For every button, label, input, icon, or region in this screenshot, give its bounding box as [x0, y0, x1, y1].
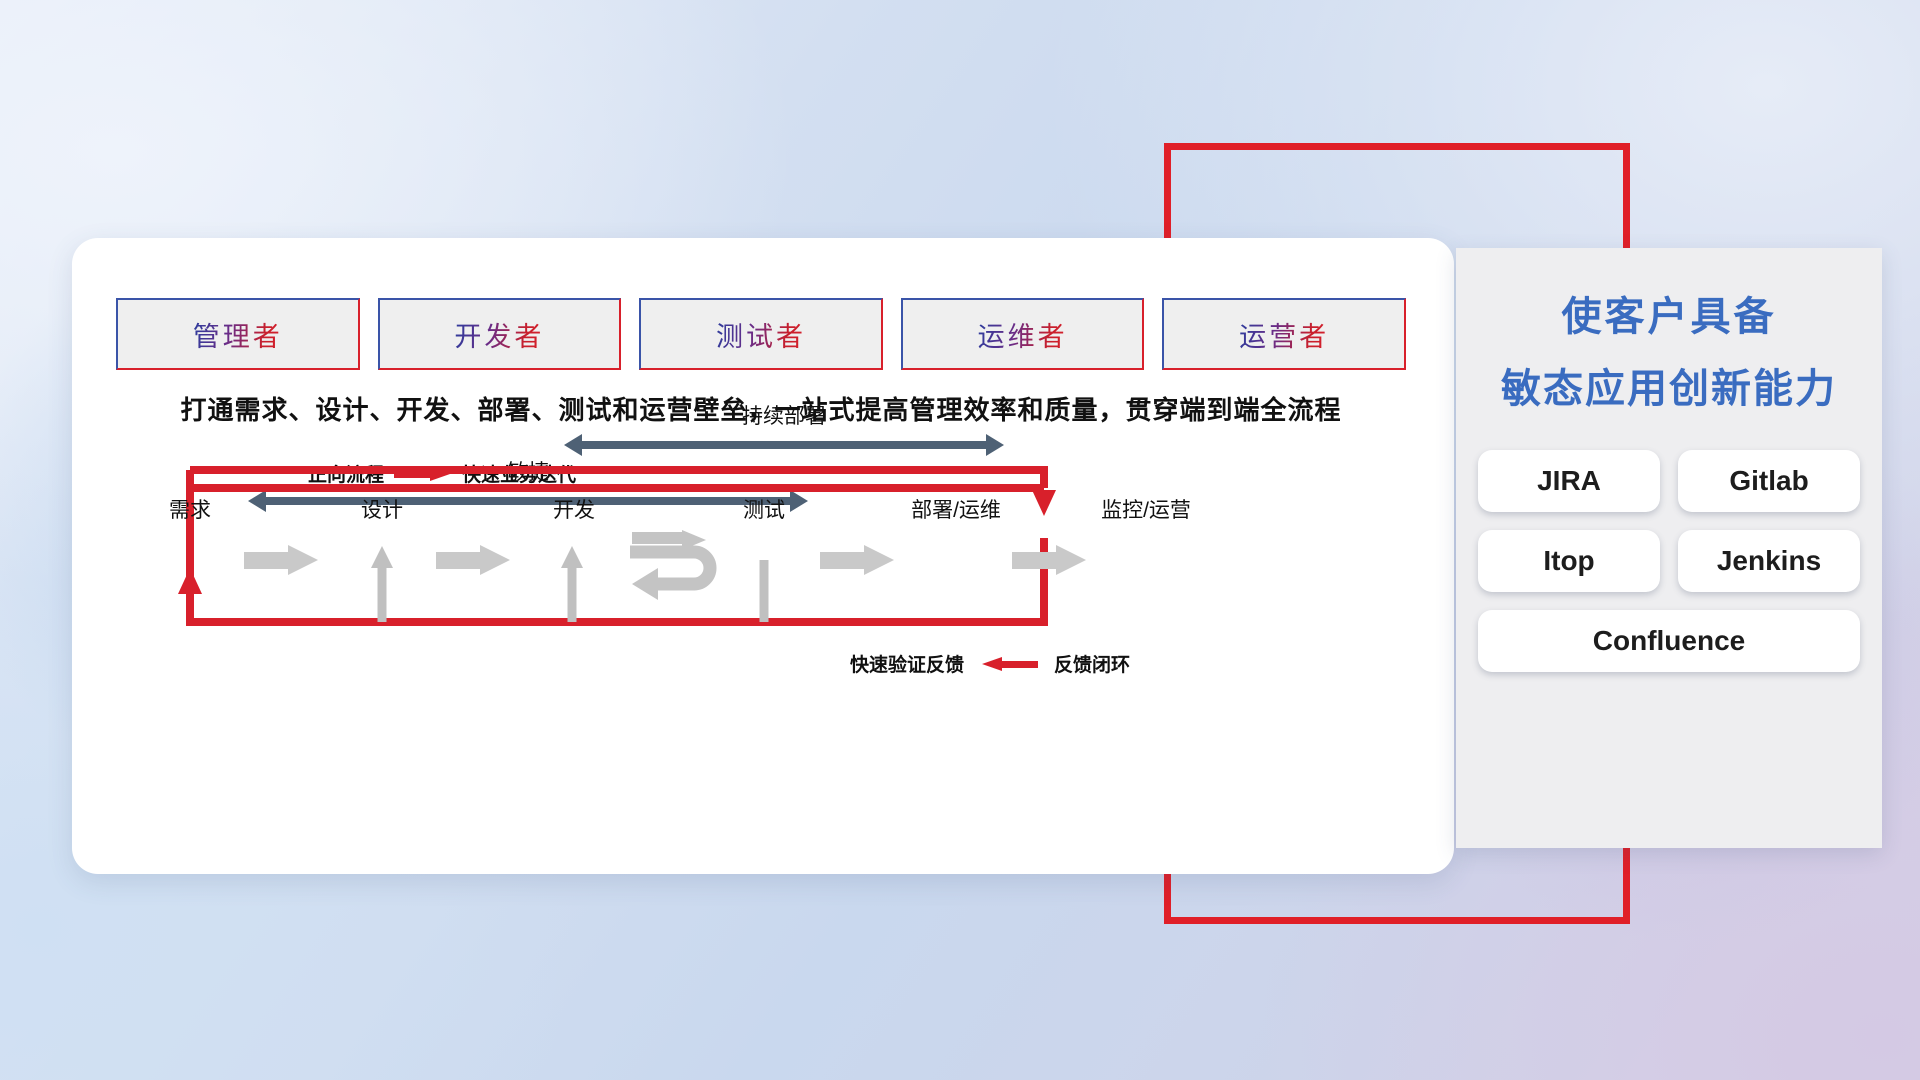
pipeline-arrow-1-icon [244, 545, 318, 575]
main-diagram-card: 管理者 开发者 测试者 运维者 运营者 打通需求、设计、开发、部署、测试和运营壁… [72, 238, 1454, 874]
pipeline-arrow-2-icon [436, 545, 510, 575]
role-chip-label: 管理者 [193, 315, 283, 354]
role-chip-developer[interactable]: 开发者 [378, 298, 622, 370]
span-arrow-continuous-deployment: 持续部署 [564, 434, 1004, 456]
tool-chip-jenkins[interactable]: Jenkins [1678, 530, 1860, 592]
pipeline-node-label: 测试 [743, 494, 785, 524]
tool-chip-gitlab[interactable]: Gitlab [1678, 450, 1860, 512]
pipeline-arrow-3-icon [820, 545, 894, 575]
tool-chip-confluence[interactable]: Confluence [1478, 610, 1860, 672]
span-arrow-label: 敏捷 [248, 456, 808, 486]
arrow-shaft [580, 441, 988, 449]
tool-chip-label: JIRA [1537, 465, 1601, 497]
capability-side-panel: 使客户具备 敏态应用创新能力 JIRA Gitlab Itop Jenkins … [1456, 248, 1882, 848]
arrow-shaft [1012, 552, 1060, 569]
tool-chip-label: Gitlab [1729, 465, 1808, 497]
arrow-shaft [264, 497, 792, 505]
tool-chip-label: Confluence [1593, 625, 1745, 657]
role-chip-manager[interactable]: 管理者 [116, 298, 360, 370]
tool-chip-list: JIRA Gitlab Itop Jenkins Confluence [1478, 450, 1860, 672]
role-chip-label: 运营者 [1239, 315, 1329, 354]
arrow-head-right-icon [1056, 545, 1086, 575]
uturn-loop-arrow-icon [624, 530, 744, 610]
side-panel-title: 使客户具备 敏态应用创新能力 [1456, 248, 1882, 414]
role-chip-tester[interactable]: 测试者 [639, 298, 883, 370]
arrow-head-right-icon [986, 434, 1004, 456]
tool-chip-label: Jenkins [1717, 545, 1821, 577]
arrow-shaft [244, 552, 292, 569]
pipeline-node-label: 开发 [553, 494, 595, 524]
legend-feedback-loop: 快速验证反馈 反馈闭环 [850, 650, 1130, 677]
tool-chip-label: Itop [1543, 545, 1594, 577]
arrow-left-red-icon [980, 657, 1038, 671]
pipeline-node-label: 监控/运营 [1101, 494, 1191, 524]
role-chip-operations[interactable]: 运营者 [1162, 298, 1406, 370]
pipeline-arrow-4-icon [1012, 545, 1086, 575]
tool-chip-itop[interactable]: Itop [1478, 530, 1660, 592]
pipeline-node-label: 部署/运维 [911, 494, 1001, 524]
role-chip-label: 测试者 [716, 315, 806, 354]
arrow-head-right-icon [480, 545, 510, 575]
role-chip-row: 管理者 开发者 测试者 运维者 运营者 [116, 298, 1406, 370]
tool-chip-jira[interactable]: JIRA [1478, 450, 1660, 512]
legend-feedback-right-label: 反馈闭环 [1054, 650, 1130, 677]
legend-feedback-left-label: 快速验证反馈 [850, 650, 964, 677]
arrow-shaft [436, 552, 484, 569]
arrow-shaft [820, 552, 868, 569]
role-chip-label: 运维者 [978, 315, 1068, 354]
pipeline-node-label: 设计 [361, 494, 403, 524]
side-panel-title-line1: 使客户具备 [1456, 284, 1882, 342]
devops-pipeline: 需求 设计 开发 测试 [72, 508, 1454, 638]
pipeline-node-label: 需求 [169, 494, 211, 524]
role-chip-ops[interactable]: 运维者 [901, 298, 1145, 370]
span-arrow-label: 持续部署 [564, 400, 1004, 430]
arrow-head-right-icon [864, 545, 894, 575]
side-panel-title-line2: 敏态应用创新能力 [1456, 356, 1882, 414]
arrow-head-right-icon [288, 545, 318, 575]
role-chip-label: 开发者 [454, 315, 544, 354]
